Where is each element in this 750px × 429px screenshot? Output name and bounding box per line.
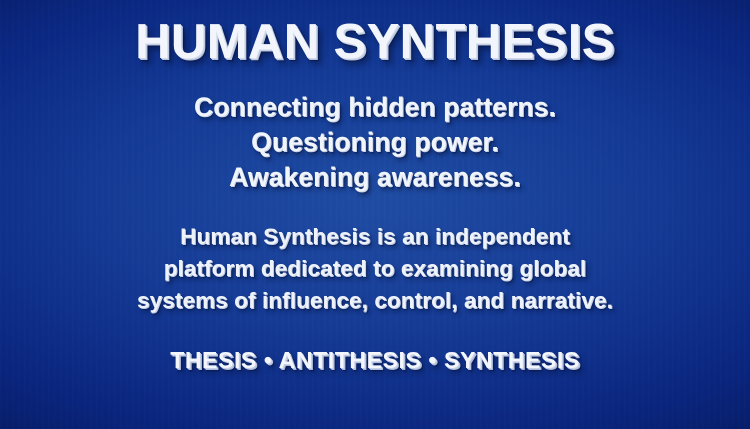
description-line-2: platform dedicated to examining global [137, 253, 613, 285]
tagline-block: Connecting hidden patterns. Questioning … [194, 90, 556, 195]
banner-content: HUMAN SYNTHESIS Connecting hidden patter… [0, 0, 750, 429]
description-line-1: Human Synthesis is an independent [137, 221, 613, 253]
tagline-line-1: Connecting hidden patterns. [194, 90, 556, 125]
tagline-line-3: Awakening awareness. [194, 160, 556, 195]
banner-canvas: HUMAN SYNTHESIS Connecting hidden patter… [0, 0, 750, 429]
description-line-3: systems of influence, control, and narra… [137, 285, 613, 317]
description-block: Human Synthesis is an independent platfo… [137, 221, 613, 317]
motto-text: THESIS • ANTITHESIS • SYNTHESIS [170, 347, 580, 374]
tagline-line-2: Questioning power. [194, 125, 556, 160]
page-title: HUMAN SYNTHESIS [135, 17, 615, 68]
